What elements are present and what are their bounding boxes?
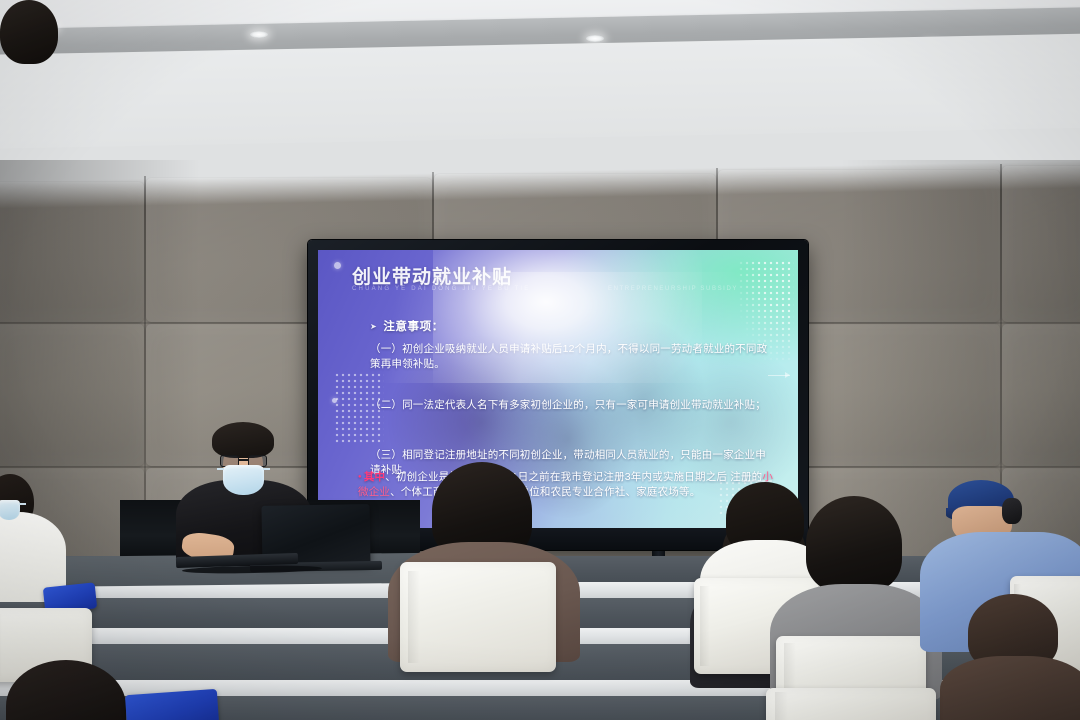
conference-room-scene: 创业带动就业补贴 CHUANG YE DAI DONG JIU YE BU TI… (0, 0, 1080, 720)
chair-back (400, 562, 556, 672)
slide-arrow-icon (768, 375, 790, 376)
presenter (0, 0, 58, 64)
attendee-headphones-icon (1002, 498, 1022, 524)
slide-item-2: （二）同一法定代表人名下有多家初创企业的，只有一家可申请创业带动就业补贴； (370, 398, 770, 413)
slide-bullet-dot-icon (334, 262, 341, 269)
attendee-head (806, 496, 902, 592)
slide-note-body-2: 注册的 (730, 471, 762, 483)
slide-item-1: （一）初创企业吸纳就业人员申请补贴后12个月内，不得以同一劳动者就业的不同政策再… (370, 342, 770, 372)
slide-bullet-dot-icon (332, 398, 337, 403)
presenter-hair (212, 422, 274, 458)
slide-subtitle-right: ENTREPRENEURSHIP SUBSIDY (608, 286, 738, 292)
slide-note-prefix: 其中 (358, 471, 385, 483)
slide-title: 创业带动就业补贴 (352, 262, 512, 289)
blue-bag-bottom (125, 689, 219, 720)
attendee-torso (940, 656, 1080, 720)
slide-section-heading: 注意事项： (370, 318, 444, 334)
presenter-hair-back (0, 0, 58, 64)
downlight-icon (250, 31, 268, 38)
face-mask-icon (223, 465, 264, 495)
slide-subtitle-left: CHUANG YE DAI DONG JIU YE BU TIE (352, 286, 530, 292)
slide-note-body-1: 、初创企业是指2019年4月1日之前在我市登记注册3年内或实施日期之后 (385, 471, 727, 483)
downlight-icon (586, 35, 604, 42)
chair-back (766, 688, 936, 720)
slide-note: 其中、初创企业是指2019年4月1日之前在我市登记注册3年内或实施日期之后 注册… (358, 470, 776, 500)
display-screen[interactable]: 创业带动就业补贴 CHUANG YE DAI DONG JIU YE BU TI… (318, 250, 798, 528)
face-mask-icon (0, 500, 20, 520)
